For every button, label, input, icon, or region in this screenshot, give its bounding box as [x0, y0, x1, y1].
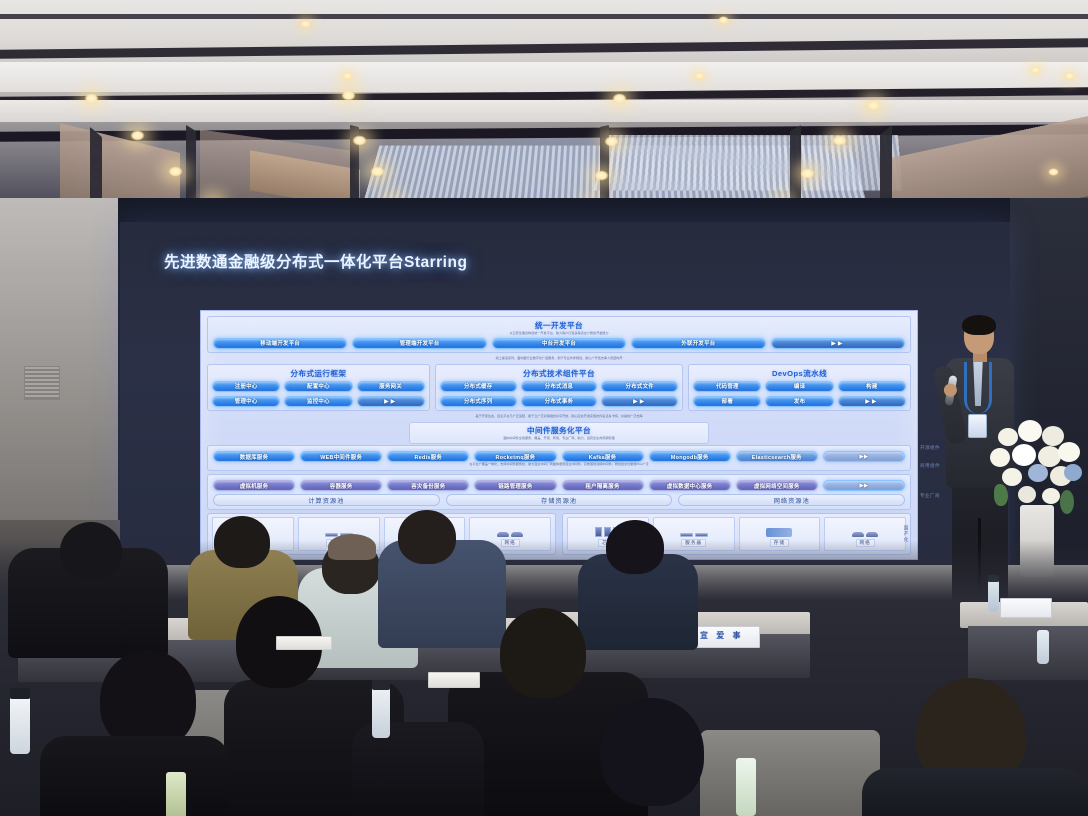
chip-item[interactable]: 移动端开发平台	[213, 338, 347, 349]
pool-compute: 计算资源池	[213, 494, 440, 506]
slide-row-virtualization: 虚拟机服务 容器服务 容灾备份服务 链路管理服务 租户隔离服务 虚拟数据中心服务…	[207, 474, 911, 510]
chip-grid: 分布式缓存 分布式消息 分布式文件 分布式序列 分布式事务 ▶▶	[440, 381, 678, 407]
chip-row: 移动端开发平台 管理端开发平台 中台开发平台 外联开发平台 ▶▶	[213, 338, 905, 349]
chip-item[interactable]: Redis服务	[387, 451, 469, 462]
bottle-cap	[988, 575, 999, 582]
slide-row-distributed-groups: 分布式运行框架 注册中心 配置中心 服务网关 管理中心 监控中心 ▶▶ 分布式技…	[207, 364, 911, 411]
column-distributed-runtime: 分布式运行框架 注册中心 配置中心 服务网关 管理中心 监控中心 ▶▶	[207, 364, 430, 411]
column-heading: DevOps流水线	[693, 368, 906, 379]
chip-row: 虚拟机服务 容器服务 容灾备份服务 链路管理服务 租户隔离服务 虚拟数据中心服务…	[213, 480, 905, 491]
ceiling-downlight	[718, 16, 729, 24]
chip-item[interactable]: 容器服务	[300, 480, 382, 491]
chip-item[interactable]: 虚拟网络空间服务	[736, 480, 818, 491]
water-bottle	[736, 758, 756, 816]
chip-item[interactable]: 代码管理	[693, 381, 761, 392]
row-note: 以云原生理念构建统一开发平台，助力客户打造多渠道全介质的开发能力	[213, 332, 905, 336]
ceiling-downlight	[130, 130, 145, 141]
ceiling-downlight	[1030, 66, 1041, 74]
ceiling-ribbed-panel	[594, 135, 903, 191]
middleware-heading-box: 中间件服务化平台 面向中间件全栈服务，覆盖、开源、商用、专业厂商、助力、运营全生…	[409, 422, 709, 445]
table-skirt	[968, 626, 1088, 680]
ceiling-metal-strip	[880, 125, 892, 205]
chip-item[interactable]: 容灾备份服务	[387, 480, 469, 491]
ceiling-band	[0, 14, 1088, 19]
chip-item[interactable]: 链路管理服务	[474, 480, 556, 491]
chip-item[interactable]: 分布式序列	[440, 396, 517, 407]
attendee-head	[100, 650, 196, 750]
chip-item[interactable]: 管理中心	[212, 396, 280, 407]
ceiling-downlight	[352, 135, 367, 146]
chip-item[interactable]: 发布	[765, 396, 833, 407]
ceiling-metal-strip	[186, 125, 196, 205]
chip-item[interactable]: 中台开发平台	[492, 338, 626, 349]
chip-item[interactable]: 分布式缓存	[440, 381, 517, 392]
ceiling-downlight	[612, 93, 627, 104]
chip-item[interactable]: Rocketmq服务	[474, 451, 556, 462]
ceiling-band	[0, 38, 1088, 58]
resource-pool-row: 计算资源池 存储资源池 网络资源池	[213, 494, 905, 506]
ceiling-band	[0, 100, 1088, 122]
chip-item[interactable]: 服务网关	[357, 381, 425, 392]
speaker-badge	[968, 414, 987, 438]
ceiling-downlight	[832, 135, 847, 146]
network-icon	[852, 522, 878, 537]
network-icon	[497, 522, 523, 537]
attendee-hair	[328, 534, 376, 560]
chip-item[interactable]: 配置中心	[284, 381, 352, 392]
side-tag-open-source: 开源组件	[920, 445, 940, 451]
water-bottle	[166, 772, 186, 816]
slide-content: 统一开发平台 以云原生理念构建统一开发平台，助力客户打造多渠道全介质的开发能力 …	[200, 310, 918, 560]
attendee-head	[214, 516, 270, 568]
row-note: 面向中间件全栈服务，覆盖、开源、商用、专业厂商、助力、运营全生命周期管理	[414, 437, 704, 441]
chip-more-arrow[interactable]: ▶▶	[838, 396, 906, 407]
ceiling-downlight	[800, 168, 815, 179]
name-card-text: 宣 爱 事	[700, 630, 743, 641]
storage-icon	[766, 522, 792, 537]
chip-item[interactable]: 注册中心	[212, 381, 280, 392]
attendee-head	[500, 608, 586, 698]
ceiling-downlight	[342, 72, 353, 80]
audience-area: 口 肤 宣 爱 事	[0, 540, 1088, 816]
water-bottle	[10, 696, 30, 754]
ceiling-downlight	[1048, 168, 1059, 176]
ceiling-downlight	[1064, 72, 1075, 80]
column-heading: 分布式技术组件平台	[440, 368, 678, 379]
chip-item[interactable]: 分布式文件	[601, 381, 678, 392]
column-devops-pipeline: DevOps流水线 代码管理 编译 构建 部署 发布 ▶▶	[688, 364, 911, 411]
chip-item[interactable]: 外联开发平台	[631, 338, 765, 349]
pool-network: 网络资源池	[678, 494, 905, 506]
water-bottle	[372, 686, 390, 738]
chip-item[interactable]: Kafka服务	[562, 451, 644, 462]
server-icon	[680, 522, 708, 537]
attendee-head	[60, 522, 122, 580]
chip-more-arrow[interactable]: ▶▶	[357, 396, 425, 407]
name-card	[1000, 598, 1052, 618]
pool-storage: 存储资源池	[446, 494, 673, 506]
chip-grid: 代码管理 编译 构建 部署 发布 ▶▶	[693, 381, 906, 407]
attendee-head	[606, 520, 664, 574]
speaker-hair	[962, 315, 996, 335]
chip-item[interactable]: 分布式消息	[521, 381, 598, 392]
water-bottle	[988, 580, 999, 612]
chip-item[interactable]: 管理端开发平台	[352, 338, 486, 349]
ceiling-metal-strip	[790, 125, 801, 205]
row-footnote: 在平台广覆盖一体化，支持中间件服务化，助力自主中间厂商整体服务自主中间件、高效落…	[213, 463, 905, 467]
chip-more-arrow[interactable]: ▶▶	[823, 480, 905, 491]
side-tag-pro-vendor: 专业厂商	[920, 493, 940, 499]
ceiling-metal-strip	[90, 127, 102, 205]
wall-vent	[24, 366, 60, 400]
chip-item[interactable]: 编译	[765, 381, 833, 392]
attendee-head	[398, 510, 456, 564]
chip-item[interactable]: 租户隔离服务	[562, 480, 644, 491]
chip-item[interactable]: 构建	[838, 381, 906, 392]
conference-hall-photo: 先进数通金融级分布式一体化平台Starring 统一开发平台 以云原生理念构建统…	[0, 0, 1088, 816]
chip-item[interactable]: 部署	[693, 396, 761, 407]
water-bottle	[1037, 630, 1049, 664]
chip-item[interactable]: 虚拟数据中心服务	[649, 480, 731, 491]
chip-more-arrow[interactable]: ▶▶	[601, 396, 678, 407]
ceiling-downlight	[594, 170, 609, 181]
attendee-head	[600, 698, 704, 806]
chip-more-arrow[interactable]: ▶▶	[823, 451, 905, 462]
ceiling	[0, 0, 1088, 205]
attendee-torso	[862, 768, 1088, 816]
chip-more-arrow[interactable]: ▶▶	[771, 338, 905, 349]
chip-item[interactable]: 监控中心	[284, 396, 352, 407]
ceiling-downlight	[84, 93, 99, 104]
ceiling-downlight	[300, 20, 311, 28]
row-heading: 统一开发平台	[213, 320, 905, 331]
ceiling-band	[0, 62, 1088, 92]
chip-item[interactable]: WEB中间件服务	[300, 451, 382, 462]
attendee-torso	[40, 736, 230, 816]
bottle-cap	[372, 680, 390, 690]
ceiling-downlight	[694, 72, 705, 80]
chip-item[interactable]: 分布式事务	[521, 396, 598, 407]
bottle-cap	[10, 688, 30, 699]
speaker-lanyard	[964, 362, 992, 414]
ceiling-downlight	[168, 166, 183, 177]
ceiling-downlight	[866, 100, 881, 111]
row-heading: 中间件服务化平台	[414, 425, 704, 436]
ceiling-downlight	[370, 166, 385, 177]
slide-row-unified-dev-platform: 统一开发平台 以云原生理念构建统一开发平台，助力客户打造多渠道全介质的开发能力 …	[207, 316, 911, 353]
row-footnote: 线上渠道系列、面向银行业数字化广度服务、助于专业伙伴规划、助心广开拓支撑人员结构…	[207, 357, 911, 361]
chip-row: 数据库服务 WEB中间件服务 Redis服务 Rocketmq服务 Kafka服…	[213, 451, 905, 462]
chip-item[interactable]: 数据库服务	[213, 451, 295, 462]
notepad	[276, 636, 332, 650]
chip-item[interactable]: Elasticsearch服务	[736, 451, 818, 462]
slide-title: 先进数通金融级分布式一体化平台Starring	[164, 250, 467, 272]
side-tag-commercial: 商用组件	[920, 463, 940, 469]
row-footnote: 基于开源生态，自主平台与广泛适配，助于云广泛对接融合共享开放，助心应充开发实施的…	[207, 415, 911, 419]
column-tech-components: 分布式技术组件平台 分布式缓存 分布式消息 分布式文件 分布式序列 分布式事务 …	[435, 364, 683, 411]
column-heading: 分布式运行框架	[212, 368, 425, 379]
chip-item[interactable]: Mongodb服务	[649, 451, 731, 462]
slide-row-middleware: 开源组件 数据库服务 WEB中间件服务 Redis服务 Rocketmq服务 K…	[207, 445, 911, 471]
notepad	[428, 672, 480, 688]
chip-grid: 注册中心 配置中心 服务网关 管理中心 监控中心 ▶▶	[212, 381, 425, 407]
ceiling-downlight	[604, 136, 619, 147]
chair	[700, 730, 880, 816]
ceiling-downlight	[341, 90, 356, 101]
chip-item[interactable]: 虚拟机服务	[213, 480, 295, 491]
